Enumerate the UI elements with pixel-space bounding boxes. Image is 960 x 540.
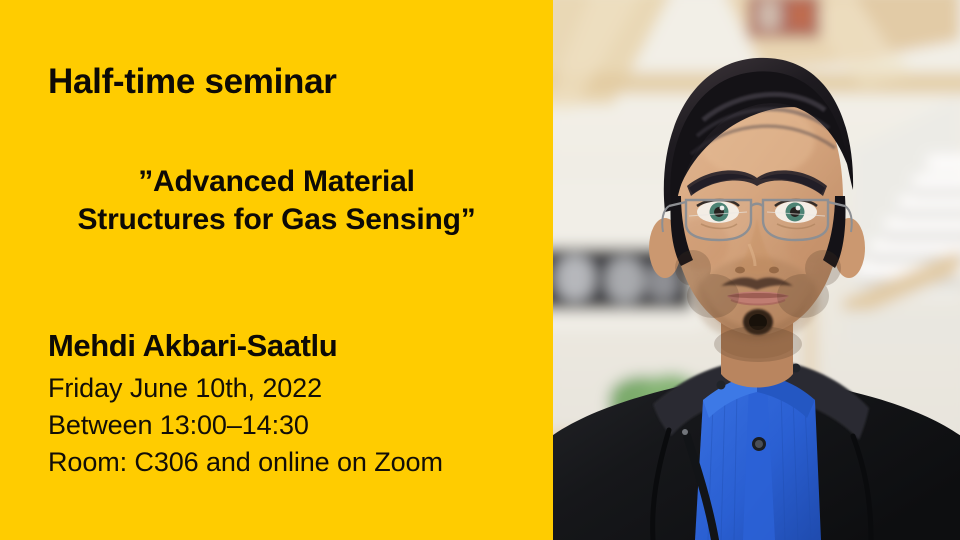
speaker-name: Mehdi Akbari-Saatlu [48,328,337,364]
event-details: Friday June 10th, 2022 Between 13:00–14:… [48,370,443,481]
event-date: Friday June 10th, 2022 [48,370,443,407]
seminar-poster: Half-time seminar ”Advanced Material Str… [0,0,960,540]
talk-title-line-1: ”Advanced Material [28,163,525,201]
talk-title: ”Advanced Material Structures for Gas Se… [0,163,553,239]
talk-title-line-2: Structures for Gas Sensing” [28,201,525,239]
event-location: Room: C306 and online on Zoom [48,444,443,481]
seminar-type-heading: Half-time seminar [48,62,337,102]
speaker-portrait-photo [553,0,960,540]
portrait-illustration [553,0,960,540]
event-time: Between 13:00–14:30 [48,407,443,444]
info-panel: Half-time seminar ”Advanced Material Str… [0,0,553,540]
